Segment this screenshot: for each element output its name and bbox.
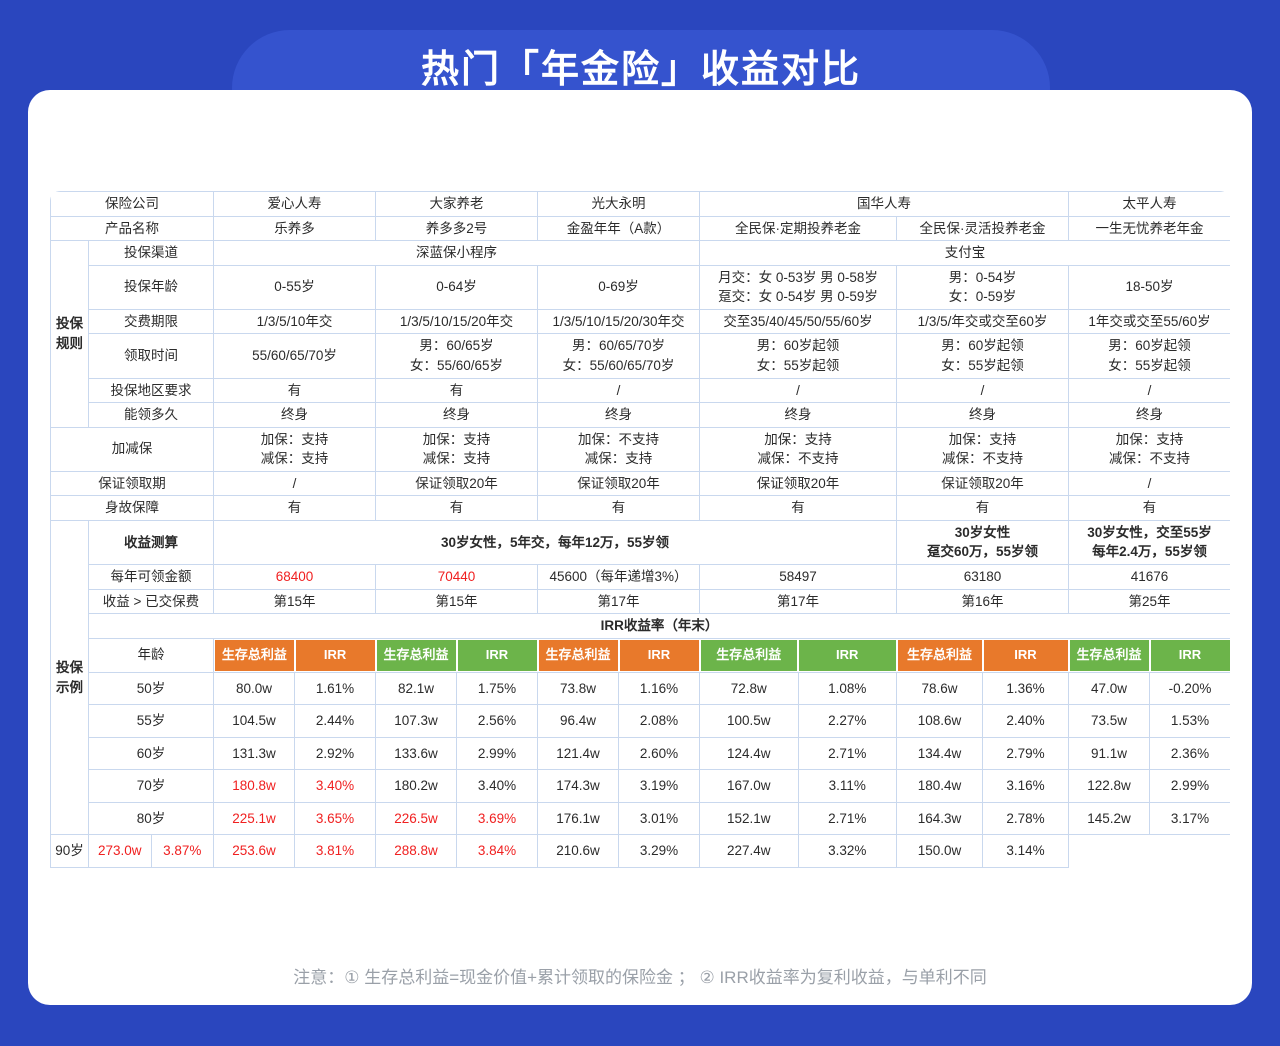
row-label: 领取时间	[89, 334, 214, 378]
irr-header-group: 生存总利益IRR	[1069, 638, 1231, 672]
irr-benefit-value: 73.8w	[538, 673, 619, 705]
irr-benefit-value: 227.4w	[700, 835, 799, 867]
irr-benefit-value: 273.0w	[89, 835, 152, 867]
irr-cell-group: 288.8w3.84%	[376, 835, 538, 868]
irr-header-benefit: 生存总利益	[897, 639, 983, 672]
row-label: 身故保障	[51, 496, 214, 521]
irr-benefit-value: 96.4w	[538, 705, 619, 737]
irr-header-group: 生存总利益IRR	[538, 638, 700, 672]
table-cell: 有	[1069, 496, 1231, 521]
irr-value: 2.78%	[983, 803, 1068, 835]
irr-value: 1.36%	[983, 673, 1068, 705]
irr-benefit-value: 174.3w	[538, 770, 619, 802]
table-cell: 加保：支持减保：支持	[376, 427, 538, 471]
irr-header-group: 生存总利益IRR	[214, 638, 376, 672]
irr-value: 2.56%	[457, 705, 537, 737]
table-cell: 加保：支持减保：不支持	[897, 427, 1069, 471]
irr-cell-group: 180.2w3.40%	[376, 770, 538, 803]
table-cell: 月交：女 0-53岁 男 0-58岁趸交：女 0-54岁 男 0-59岁	[700, 265, 897, 309]
irr-cell-group: 100.5w2.27%	[700, 705, 897, 738]
irr-benefit-value: 134.4w	[897, 738, 983, 770]
irr-header-age: 年龄	[89, 638, 214, 672]
table-cell: 有	[897, 496, 1069, 521]
irr-cell-group: 73.8w1.16%	[538, 672, 700, 705]
comparison-table-wrap: 保险公司爱心人寿大家养老光大永明国华人寿太平人寿产品名称乐养多养多多2号金盈年年…	[50, 191, 1230, 953]
header-product-label: 产品名称	[51, 216, 214, 241]
irr-value: 2.36%	[1150, 738, 1230, 770]
irr-value: 3.69%	[457, 803, 537, 835]
table-cell: 1/3/5/年交或交至60岁	[897, 309, 1069, 334]
table-cell: 终身	[897, 403, 1069, 428]
annual-amount-cell: 70440	[376, 565, 538, 590]
table-cell: 有	[214, 378, 376, 403]
irr-benefit-value: 72.8w	[700, 673, 799, 705]
irr-value: 3.40%	[457, 770, 537, 802]
irr-cell-group: 107.3w2.56%	[376, 705, 538, 738]
table-cell: 有	[214, 496, 376, 521]
irr-value: 2.79%	[983, 738, 1068, 770]
irr-value: 3.14%	[983, 835, 1068, 867]
irr-cell-group: 122.8w2.99%	[1069, 770, 1231, 803]
irr-value: 3.29%	[619, 835, 699, 867]
irr-cell-group: 131.3w2.92%	[214, 737, 376, 770]
irr-value: 2.60%	[619, 738, 699, 770]
row-label-yield-calc: 收益测算	[89, 520, 214, 564]
irr-cell-group: 82.1w1.75%	[376, 672, 538, 705]
irr-value: 3.84%	[457, 835, 537, 867]
table-cell: 保证领取20年	[897, 471, 1069, 496]
irr-value: 1.08%	[799, 673, 897, 705]
irr-value: 1.16%	[619, 673, 699, 705]
product-name: 一生无忧养老年金	[1069, 216, 1231, 241]
irr-cell-group: 180.4w3.16%	[897, 770, 1069, 803]
table-cell: /	[700, 378, 897, 403]
table-cell: 交至35/40/45/50/55/60岁	[700, 309, 897, 334]
product-name: 乐养多	[214, 216, 376, 241]
annual-amount-cell: 58497	[700, 565, 897, 590]
table-cell: /	[1069, 471, 1231, 496]
irr-value: 2.44%	[295, 705, 375, 737]
irr-benefit-value: 210.6w	[538, 835, 619, 867]
irr-cell-group: 73.5w1.53%	[1069, 705, 1231, 738]
irr-cell-group: 108.6w2.40%	[897, 705, 1069, 738]
irr-benefit-value: 104.5w	[214, 705, 295, 737]
irr-benefit-value: 121.4w	[538, 738, 619, 770]
channel-value-right: 支付宝	[700, 241, 1231, 266]
irr-cell-group: 176.1w3.01%	[538, 802, 700, 835]
irr-cell-group: 164.3w2.78%	[897, 802, 1069, 835]
section-label-rules: 投保规则	[51, 241, 89, 428]
yield-calc-col5: 30岁女性趸交60万，55岁领	[897, 520, 1069, 564]
irr-benefit-value: 47.0w	[1069, 673, 1150, 705]
irr-benefit-value: 152.1w	[700, 803, 799, 835]
irr-value: 3.65%	[295, 803, 375, 835]
irr-value: 2.40%	[983, 705, 1068, 737]
irr-benefit-value: 78.6w	[897, 673, 983, 705]
irr-cell-group: 96.4w2.08%	[538, 705, 700, 738]
irr-header-group: 生存总利益IRR	[700, 638, 897, 672]
row-label-breakeven: 收益 > 已交保费	[89, 589, 214, 614]
row-label: 投保地区要求	[89, 378, 214, 403]
irr-header-benefit: 生存总利益	[376, 639, 457, 672]
breakeven-cell: 第15年	[376, 589, 538, 614]
channel-value-left: 深蓝保小程序	[214, 241, 700, 266]
irr-cell-group: 152.1w2.71%	[700, 802, 897, 835]
table-cell: /	[1069, 378, 1231, 403]
table-cell: 保证领取20年	[538, 471, 700, 496]
table-cell: 18-50岁	[1069, 265, 1231, 309]
product-name: 养多多2号	[376, 216, 538, 241]
table-cell: /	[538, 378, 700, 403]
irr-cell-group: 91.1w2.36%	[1069, 737, 1231, 770]
company-name: 大家养老	[376, 192, 538, 217]
irr-row-age: 55岁	[89, 705, 214, 738]
irr-row-age: 70岁	[89, 770, 214, 803]
table-cell: 加保：支持减保：支持	[214, 427, 376, 471]
row-label: 保证领取期	[51, 471, 214, 496]
company-name: 爱心人寿	[214, 192, 376, 217]
page-root: 热门「年金险」收益对比 微信公众号「深蓝保」专注保险测评 shenlanbao.…	[0, 0, 1280, 1046]
irr-benefit-value: 180.8w	[214, 770, 295, 802]
irr-benefit-value: 100.5w	[700, 705, 799, 737]
irr-cell-group: 273.0w3.87%	[89, 835, 214, 868]
product-name: 金盈年年（A款）	[538, 216, 700, 241]
table-cell: 有	[700, 496, 897, 521]
irr-cell-group: 72.8w1.08%	[700, 672, 897, 705]
row-label-channel: 投保渠道	[89, 241, 214, 266]
row-label-annual-amount: 每年可领金额	[89, 565, 214, 590]
irr-cell-group: 167.0w3.11%	[700, 770, 897, 803]
irr-benefit-value: 288.8w	[376, 835, 457, 867]
product-name: 全民保·定期投养老金	[700, 216, 897, 241]
irr-cell-group: 210.6w3.29%	[538, 835, 700, 868]
irr-benefit-value: 108.6w	[897, 705, 983, 737]
irr-benefit-value: 176.1w	[538, 803, 619, 835]
irr-benefit-value: 253.6w	[214, 835, 295, 867]
footer-note: 注意：① 生存总利益=现金价值+累计领取的保险金 ； ② IRR收益率为复利收益…	[0, 963, 1280, 988]
table-cell: 终身	[700, 403, 897, 428]
irr-cell-group: 226.5w3.69%	[376, 802, 538, 835]
table-cell: /	[214, 471, 376, 496]
table-cell: 1年交或交至55/60岁	[1069, 309, 1231, 334]
breakeven-cell: 第15年	[214, 589, 376, 614]
table-cell: 男：0-54岁女：0-59岁	[897, 265, 1069, 309]
irr-header-benefit: 生存总利益	[538, 639, 619, 672]
irr-value: 2.71%	[799, 738, 897, 770]
yield-calc-col6: 30岁女性，交至55岁每年2.4万，55岁领	[1069, 520, 1231, 564]
irr-row-age: 60岁	[89, 737, 214, 770]
irr-value: 1.53%	[1150, 705, 1230, 737]
table-cell: 男：60岁起领女：55岁起领	[700, 334, 897, 378]
comparison-table: 保险公司爱心人寿大家养老光大永明国华人寿太平人寿产品名称乐养多养多多2号金盈年年…	[50, 191, 1230, 868]
irr-cell-group: 174.3w3.19%	[538, 770, 700, 803]
irr-benefit-value: 124.4w	[700, 738, 799, 770]
irr-value: 3.16%	[983, 770, 1068, 802]
irr-cell-group: 121.4w2.60%	[538, 737, 700, 770]
row-label: 交费期限	[89, 309, 214, 334]
breakeven-cell: 第25年	[1069, 589, 1231, 614]
irr-benefit-value: 131.3w	[214, 738, 295, 770]
table-cell: 有	[376, 496, 538, 521]
company-name: 光大永明	[538, 192, 700, 217]
irr-cell-group: 253.6w3.81%	[214, 835, 376, 868]
table-cell: 终身	[538, 403, 700, 428]
irr-cell-group: 80.0w1.61%	[214, 672, 376, 705]
irr-header-irr: IRR	[1150, 639, 1231, 672]
irr-value: 3.19%	[619, 770, 699, 802]
irr-benefit-value: 73.5w	[1069, 705, 1150, 737]
table-cell: 0-69岁	[538, 265, 700, 309]
irr-value: 3.81%	[295, 835, 375, 867]
table-cell: 终身	[376, 403, 538, 428]
irr-header-group: 生存总利益IRR	[376, 638, 538, 672]
irr-value: 3.32%	[799, 835, 897, 867]
irr-cell-group: 180.8w3.40%	[214, 770, 376, 803]
annual-amount-cell: 45600（每年递增3%）	[538, 565, 700, 590]
irr-benefit-value: 150.0w	[897, 835, 983, 867]
table-cell: 终身	[214, 403, 376, 428]
table-cell: 男：60/65岁女：55/60/65岁	[376, 334, 538, 378]
irr-benefit-value: 80.0w	[214, 673, 295, 705]
irr-value: 3.87%	[152, 835, 214, 867]
irr-benefit-value: 82.1w	[376, 673, 457, 705]
irr-benefit-value: 225.1w	[214, 803, 295, 835]
table-cell: 55/60/65/70岁	[214, 334, 376, 378]
irr-cell-group: 227.4w3.32%	[700, 835, 897, 868]
table-cell: 加保：支持减保：不支持	[700, 427, 897, 471]
irr-header-benefit: 生存总利益	[214, 639, 295, 672]
row-label: 投保年龄	[89, 265, 214, 309]
table-cell: 有	[538, 496, 700, 521]
section-label-example: 投保示例	[51, 520, 89, 834]
table-cell: 1/3/5/10年交	[214, 309, 376, 334]
table-cell: 男：60岁起领女：55岁起领	[1069, 334, 1231, 378]
table-cell: 加保：支持减保：不支持	[1069, 427, 1231, 471]
table-cell: 终身	[1069, 403, 1231, 428]
irr-cell-group: 104.5w2.44%	[214, 705, 376, 738]
irr-value: 3.11%	[799, 770, 897, 802]
irr-header-irr: IRR	[457, 639, 538, 672]
table-cell: 0-64岁	[376, 265, 538, 309]
company-name: 太平人寿	[1069, 192, 1231, 217]
annual-amount-cell: 68400	[214, 565, 376, 590]
irr-cell-group: 145.2w3.17%	[1069, 802, 1231, 835]
irr-value: 3.40%	[295, 770, 375, 802]
breakeven-cell: 第17年	[700, 589, 897, 614]
irr-banner: IRR收益率（年末）	[89, 614, 1231, 639]
irr-value: 3.01%	[619, 803, 699, 835]
table-cell: 1/3/5/10/15/20年交	[376, 309, 538, 334]
irr-value: 1.61%	[295, 673, 375, 705]
irr-benefit-value: 180.2w	[376, 770, 457, 802]
banner-title: 热门「年金险」收益对比	[421, 47, 861, 95]
irr-header-group: 生存总利益IRR	[897, 638, 1069, 672]
irr-benefit-value: 133.6w	[376, 738, 457, 770]
irr-benefit-value: 107.3w	[376, 705, 457, 737]
irr-benefit-value: 167.0w	[700, 770, 799, 802]
irr-row-age: 90岁	[51, 835, 89, 868]
irr-cell-group: 134.4w2.79%	[897, 737, 1069, 770]
table-cell: 保证领取20年	[700, 471, 897, 496]
irr-benefit-value: 91.1w	[1069, 738, 1150, 770]
irr-cell-group: 78.6w1.36%	[897, 672, 1069, 705]
irr-value: 2.99%	[1150, 770, 1230, 802]
irr-value: 3.17%	[1150, 803, 1230, 835]
irr-cell-group: 133.6w2.99%	[376, 737, 538, 770]
irr-header-irr: IRR	[798, 639, 897, 672]
irr-header-irr: IRR	[295, 639, 376, 672]
breakeven-cell: 第16年	[897, 589, 1069, 614]
irr-header-benefit: 生存总利益	[1069, 639, 1150, 672]
yield-calc-left: 30岁女性，5年交，每年12万，55岁领	[214, 520, 897, 564]
table-cell: 保证领取20年	[376, 471, 538, 496]
breakeven-cell: 第17年	[538, 589, 700, 614]
table-cell: 男：60/65/70岁女：55/60/65/70岁	[538, 334, 700, 378]
irr-benefit-value: 164.3w	[897, 803, 983, 835]
annual-amount-cell: 63180	[897, 565, 1069, 590]
irr-value: 2.99%	[457, 738, 537, 770]
comparison-table-body: 保险公司爱心人寿大家养老光大永明国华人寿太平人寿产品名称乐养多养多多2号金盈年年…	[51, 192, 1231, 868]
irr-header-irr: IRR	[619, 639, 700, 672]
table-cell: 0-55岁	[214, 265, 376, 309]
irr-benefit-value: 226.5w	[376, 803, 457, 835]
header-company-label: 保险公司	[51, 192, 214, 217]
irr-value: 2.71%	[799, 803, 897, 835]
table-cell: 1/3/5/10/15/20/30年交	[538, 309, 700, 334]
irr-cell-group: 150.0w3.14%	[897, 835, 1069, 868]
table-cell: 男：60岁起领女：55岁起领	[897, 334, 1069, 378]
irr-benefit-value: 180.4w	[897, 770, 983, 802]
irr-cell-group: 225.1w3.65%	[214, 802, 376, 835]
irr-value: 2.92%	[295, 738, 375, 770]
table-cell: 加保：不支持减保：支持	[538, 427, 700, 471]
irr-value: 1.75%	[457, 673, 537, 705]
irr-cell-group: 47.0w-0.20%	[1069, 672, 1231, 705]
table-cell: /	[897, 378, 1069, 403]
irr-value: -0.20%	[1150, 673, 1230, 705]
irr-header-benefit: 生存总利益	[700, 639, 799, 672]
irr-benefit-value: 122.8w	[1069, 770, 1150, 802]
table-cell: 有	[376, 378, 538, 403]
irr-benefit-value: 145.2w	[1069, 803, 1150, 835]
irr-header-irr: IRR	[983, 639, 1069, 672]
company-name: 国华人寿	[700, 192, 1069, 217]
product-name: 全民保·灵活投养老金	[897, 216, 1069, 241]
irr-value: 2.27%	[799, 705, 897, 737]
row-label: 加减保	[51, 427, 214, 471]
row-label: 能领多久	[89, 403, 214, 428]
irr-row-age: 80岁	[89, 802, 214, 835]
annual-amount-cell: 41676	[1069, 565, 1231, 590]
irr-value: 2.08%	[619, 705, 699, 737]
irr-row-age: 50岁	[89, 672, 214, 705]
irr-cell-group: 124.4w2.71%	[700, 737, 897, 770]
